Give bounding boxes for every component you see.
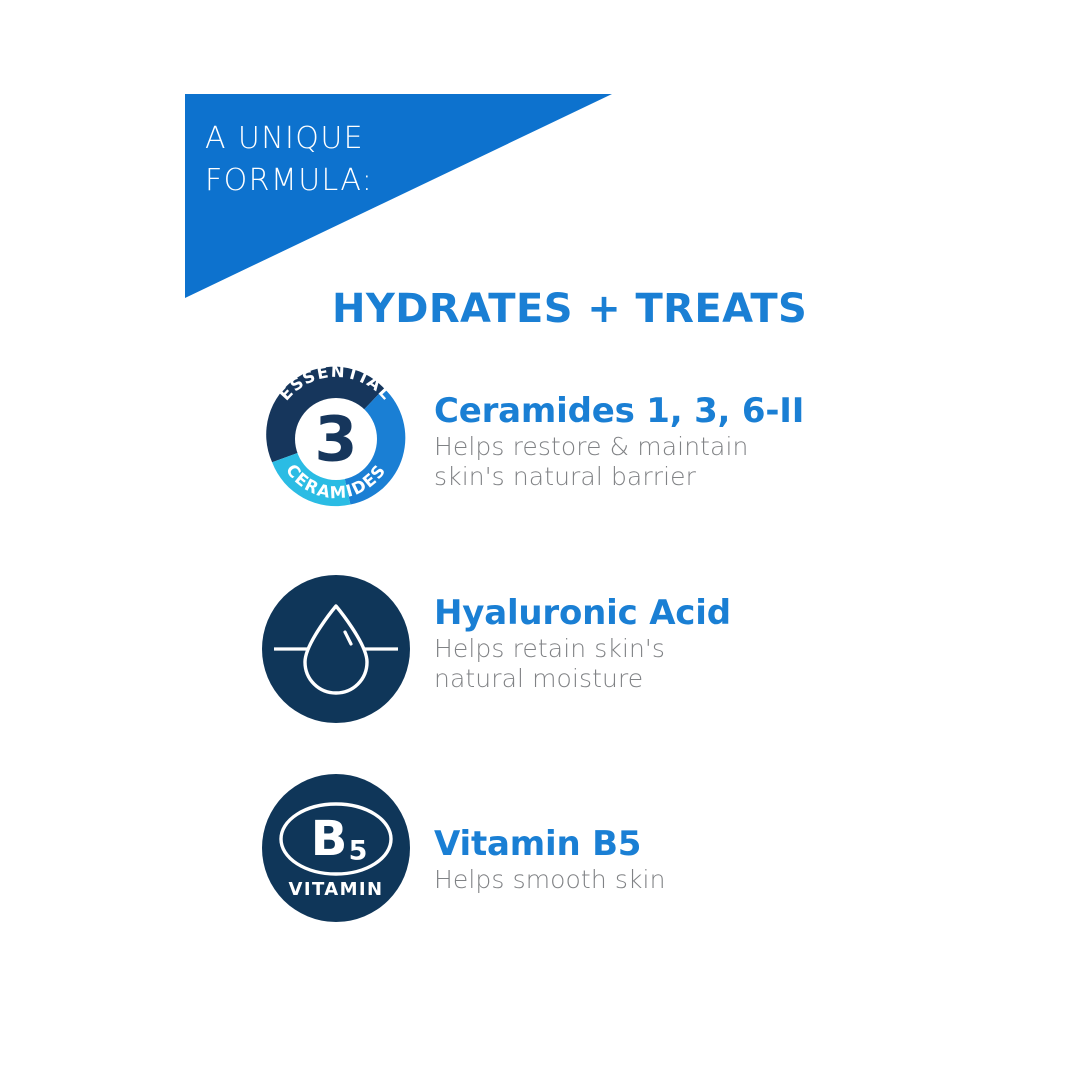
water-drop-icon: [261, 574, 411, 728]
ingredient-name: Hyaluronic Acid: [434, 593, 904, 633]
ingredient-row-hyaluronic-acid: Hyaluronic Acid Helps retain skin's natu…: [0, 563, 1080, 733]
page-title: HYDRATES + TREATS: [332, 286, 807, 332]
svg-text:VITAMIN: VITAMIN: [289, 879, 384, 900]
ingredient-description: Helps restore & maintain skin's natural …: [434, 432, 904, 492]
svg-text:B: B: [311, 811, 348, 867]
ingredient-name: Vitamin B5: [434, 824, 904, 864]
ingredient-row-vitamin-b5: B 5 VITAMIN Vitamin B5 Helps smooth skin: [0, 762, 1080, 932]
svg-text:3: 3: [314, 403, 357, 476]
ingredient-description: Helps retain skin's natural moisture: [434, 634, 904, 694]
ingredient-row-ceramides: ESSENTIAL CERAMIDES 3 Ceramides 1, 3, 6-…: [0, 359, 1080, 529]
svg-text:5: 5: [349, 836, 368, 867]
ingredient-description: Helps smooth skin: [434, 865, 904, 895]
banner-title: A UNIQUE FORMULA:: [205, 118, 505, 202]
ingredient-name: Ceramides 1, 3, 6-II: [434, 391, 904, 431]
ingredient-text-vitamin-b5: Vitamin B5 Helps smooth skin: [434, 824, 904, 895]
vitamin-b5-icon: B 5 VITAMIN: [261, 773, 411, 927]
ingredient-text-hyaluronic-acid: Hyaluronic Acid Helps retain skin's natu…: [434, 593, 904, 694]
essential-3-ceramides-badge-icon: ESSENTIAL CERAMIDES 3: [256, 359, 416, 523]
ingredient-text-ceramides: Ceramides 1, 3, 6-II Helps restore & mai…: [434, 391, 904, 492]
